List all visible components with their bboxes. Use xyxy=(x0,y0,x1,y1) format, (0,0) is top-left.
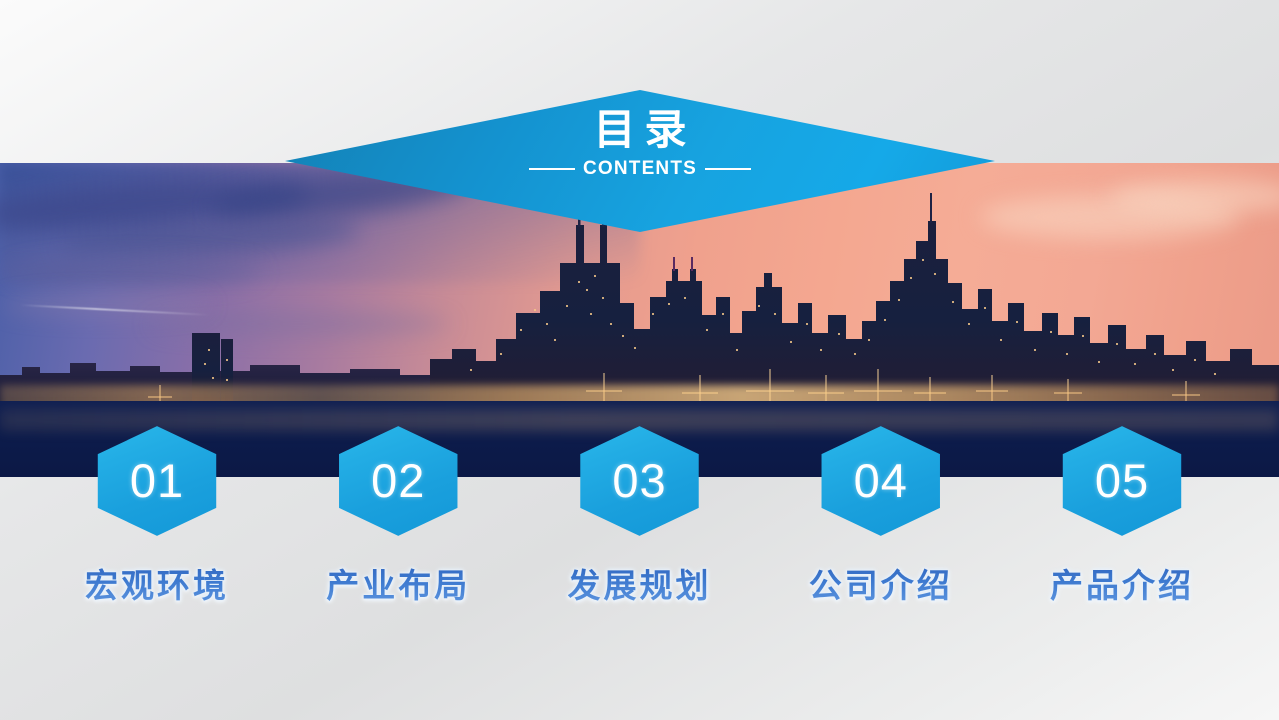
item-number: 02 xyxy=(371,457,425,506)
item-label: 发展规划 xyxy=(568,559,712,607)
contents-item-03[interactable]: 03 发展规划 xyxy=(535,425,745,655)
item-number: 05 xyxy=(1095,457,1149,506)
contents-item-05[interactable]: 05 产品介绍 xyxy=(1017,425,1227,655)
contents-item-list: 01 宏观环境 02 产业布局 03 发展规划 04 公司介绍 05 xyxy=(0,425,1279,655)
contents-item-01[interactable]: 01 宏观环境 xyxy=(52,425,262,655)
contents-item-02[interactable]: 02 产业布局 xyxy=(293,425,503,655)
item-label: 产品介绍 xyxy=(1050,559,1194,607)
item-label: 宏观环境 xyxy=(85,559,229,607)
hexagon-badge[interactable]: 04 xyxy=(818,425,944,537)
item-number: 04 xyxy=(854,457,908,506)
hexagon-badge[interactable]: 02 xyxy=(335,425,461,537)
presentation-slide: 目录 CONTENTS 01 宏观环境 02 产业布局 03 发展规划 xyxy=(0,0,1279,720)
item-number: 01 xyxy=(130,457,184,506)
item-label: 公司介绍 xyxy=(809,559,953,607)
hexagon-badge[interactable]: 05 xyxy=(1059,425,1185,537)
hexagon-badge[interactable]: 01 xyxy=(94,425,220,537)
item-number: 03 xyxy=(612,457,666,506)
hexagon-badge[interactable]: 03 xyxy=(577,425,703,537)
contents-item-04[interactable]: 04 公司介绍 xyxy=(776,425,986,655)
item-label: 产业布局 xyxy=(326,559,470,607)
